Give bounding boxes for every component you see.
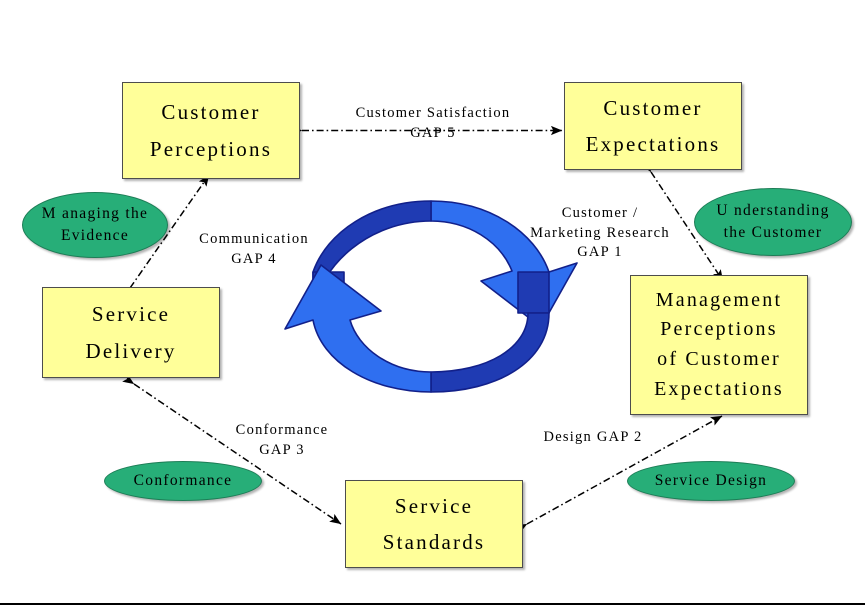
box-customer-expectations[interactable]: Customer Expectations (564, 82, 742, 170)
ellipse-line: U nderstanding (716, 200, 829, 222)
label-gap-4: Communication GAP 4 (186, 230, 322, 269)
label-line: Marketing Research (517, 224, 683, 244)
box-line: Management (656, 286, 782, 316)
box-line: Service (92, 296, 170, 332)
label-line: GAP 1 (517, 243, 683, 263)
box-customer-perceptions[interactable]: Customer Perceptions (122, 82, 300, 179)
label-gap-5: Customer Satisfaction GAP 5 (340, 104, 526, 143)
ellipse-line: Service Design (655, 470, 767, 492)
label-line: Communication (186, 230, 322, 250)
box-service-delivery[interactable]: Service Delivery (42, 287, 220, 378)
box-line: Delivery (85, 333, 176, 369)
ellipse-understanding-the-customer[interactable]: U nderstanding the Customer (694, 188, 852, 256)
box-line: Standards (383, 524, 486, 560)
box-line: Expectations (654, 375, 784, 405)
box-line: Service (395, 488, 473, 524)
box-line: Perceptions (150, 131, 272, 167)
label-gap-2: Design GAP 2 (530, 428, 656, 448)
label-line: Customer Satisfaction (340, 104, 526, 124)
label-gap-1: Customer / Marketing Research GAP 1 (517, 204, 683, 263)
label-line: GAP 3 (221, 441, 343, 461)
ellipse-line: Evidence (61, 225, 129, 247)
label-line: Conformance (221, 421, 343, 441)
label-line: GAP 5 (340, 124, 526, 144)
box-service-standards[interactable]: Service Standards (345, 480, 523, 568)
box-line: Expectations (586, 126, 721, 162)
label-line: GAP 4 (186, 250, 322, 270)
box-line: Customer (161, 94, 260, 130)
label-line: Design GAP 2 (530, 428, 656, 448)
box-line: Perceptions (660, 315, 778, 345)
box-management-perceptions[interactable]: Management Perceptions of Customer Expec… (630, 275, 808, 415)
box-line: of Customer (657, 345, 781, 375)
ellipse-line: Conformance (134, 470, 233, 492)
ellipse-conformance[interactable]: Conformance (104, 461, 262, 501)
label-gap-3: Conformance GAP 3 (221, 421, 343, 460)
label-line: Customer / (517, 204, 683, 224)
diagram-canvas: Customer Perceptions Customer Expectatio… (0, 0, 865, 611)
ellipse-service-design[interactable]: Service Design (627, 461, 795, 501)
box-line: Customer (603, 90, 702, 126)
bottom-divider (0, 603, 865, 605)
ellipse-managing-the-evidence[interactable]: M anaging the Evidence (22, 192, 168, 258)
ellipse-line: M anaging the (42, 203, 148, 225)
ellipse-line: the Customer (724, 222, 823, 244)
